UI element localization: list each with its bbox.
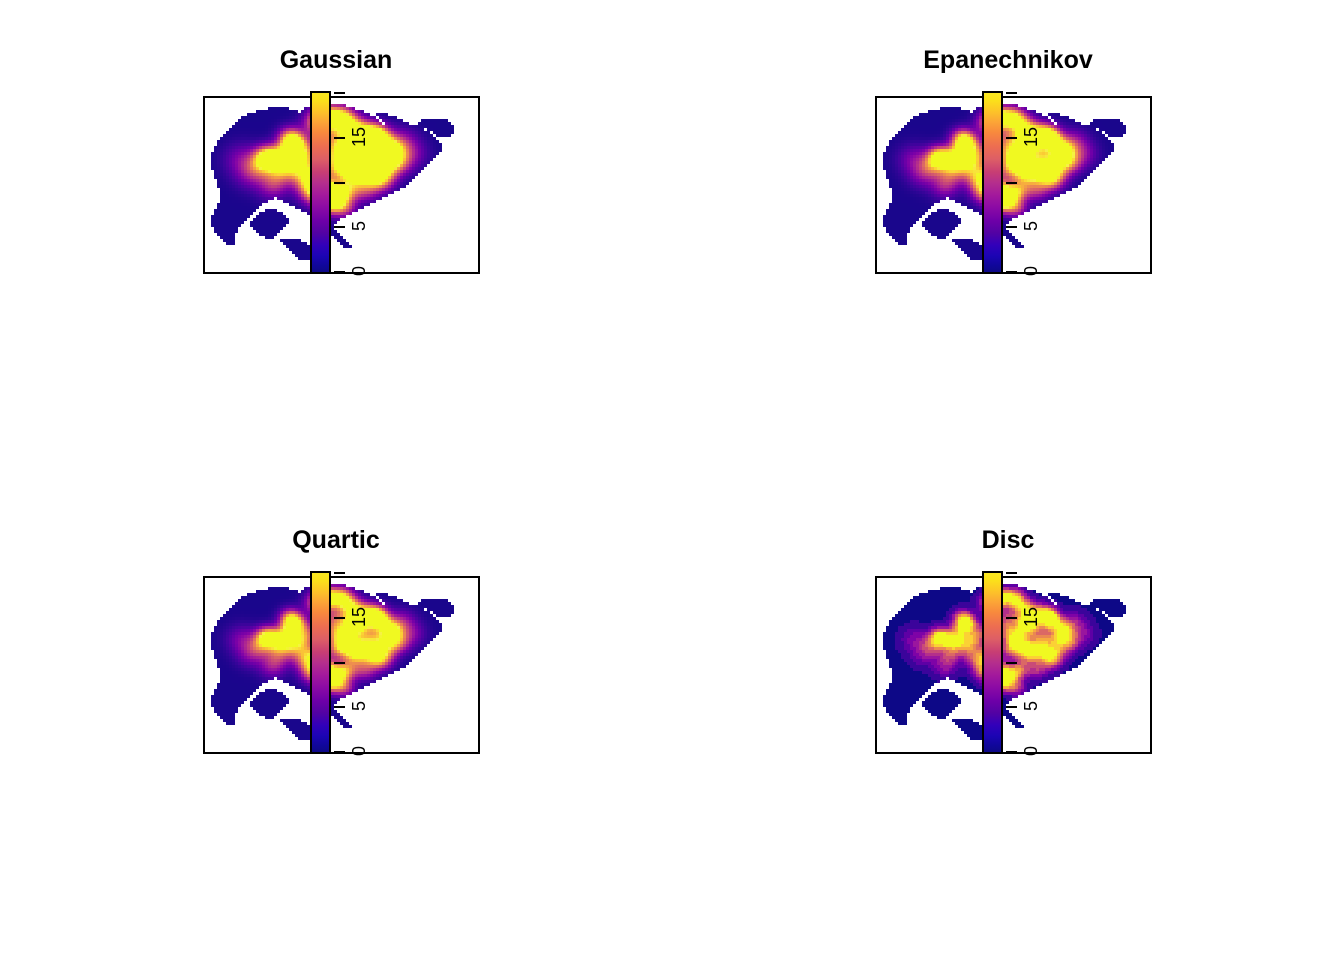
panel-title: Quartic: [0, 528, 672, 553]
colorbar-tick-labels: 0515: [344, 70, 374, 300]
colorbar-ticks: [1003, 571, 1017, 754]
colorbar-tick-labels: 0515: [344, 550, 374, 780]
colorbar-ramp: [982, 571, 1003, 754]
colorbar-ramp: [310, 91, 331, 274]
colorbar-tick-label: 5: [350, 691, 368, 721]
panel-gaussian: Gaussian 0515: [0, 0, 672, 480]
colorbar-tick-label: 0: [1022, 256, 1040, 286]
colorbar-tick-label: 0: [350, 736, 368, 766]
colorbar-tick-labels: 0515: [1016, 550, 1046, 780]
panel-title: Epanechnikov: [672, 48, 1344, 73]
panel-epanechnikov: Epanechnikov 0515: [672, 0, 1344, 480]
colorbar-tick-label: 5: [350, 211, 368, 241]
colorbar-tick-label: 15: [350, 602, 368, 632]
colorbar-tick-label: 5: [1022, 211, 1040, 241]
colorbar-tick-label: 0: [350, 256, 368, 286]
colorbar-ticks: [331, 571, 345, 754]
colorbar-tick-label: 15: [1022, 602, 1040, 632]
colorbar-ramp: [982, 91, 1003, 274]
panel-title: Gaussian: [0, 48, 672, 73]
colorbar-tick-label: 15: [350, 122, 368, 152]
colorbar-tick-label: 5: [1022, 691, 1040, 721]
panel-disc: Disc 0515: [672, 480, 1344, 960]
colorbar-tick-label: 15: [1022, 122, 1040, 152]
colorbar-tick-labels: 0515: [1016, 70, 1046, 300]
panel-title: Disc: [672, 528, 1344, 553]
colorbar-ramp: [310, 571, 331, 754]
panel-quartic: Quartic 0515: [0, 480, 672, 960]
colorbar-ticks: [1003, 91, 1017, 274]
colorbar-tick-label: 0: [1022, 736, 1040, 766]
colorbar-ticks: [331, 91, 345, 274]
